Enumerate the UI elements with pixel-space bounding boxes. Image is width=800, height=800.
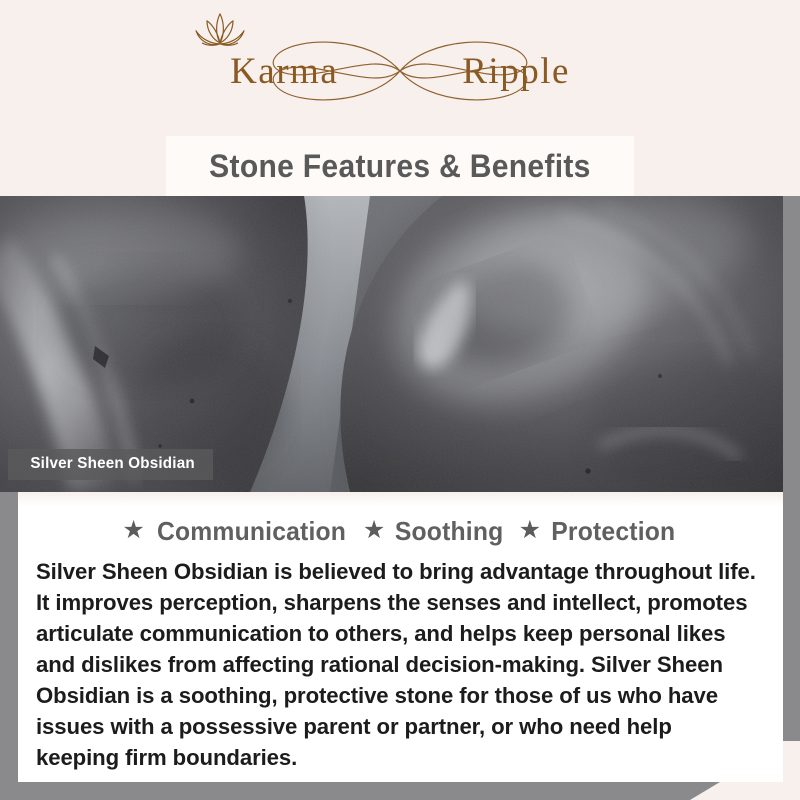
keyword-item-soothing: ★ Soothing	[363, 516, 507, 547]
header: Karma Ripple Stone Features & Benefits	[0, 0, 800, 196]
obsidian-stones-image	[0, 196, 783, 492]
stone-description: Silver Sheen Obsidian is believed to bri…	[36, 556, 757, 773]
panel-bottom-pad	[18, 782, 720, 800]
lotus-icon	[187, 10, 253, 52]
star-icon: ★	[519, 518, 541, 543]
brand-name-left: Karma	[230, 53, 338, 90]
keyword-label: Communication	[157, 516, 346, 547]
star-icon: ★	[363, 518, 385, 543]
content-panel: ★ Communication ★ Soothing ★ Protection …	[18, 492, 783, 782]
keyword-label: Soothing	[395, 516, 504, 547]
photo-caption: Silver Sheen Obsidian	[8, 449, 213, 480]
panel-top-fade	[18, 492, 783, 506]
photo-caption-label: Silver Sheen Obsidian	[30, 455, 194, 473]
star-icon: ★	[122, 518, 144, 543]
brand-logo[interactable]: Karma Ripple	[0, 30, 800, 112]
stone-info-card: Karma Ripple Stone Features & Benefits	[0, 0, 800, 800]
page-title-plate: Stone Features & Benefits	[166, 136, 634, 196]
stone-photo: Silver Sheen Obsidian	[0, 196, 783, 492]
page-title: Stone Features & Benefits	[209, 148, 590, 185]
keyword-list: ★ Communication ★ Soothing ★ Protection	[18, 516, 783, 547]
brand-name-right: Ripple	[462, 53, 570, 90]
keyword-item-protection: ★ Protection	[519, 516, 679, 547]
keyword-item-communication: ★ Communication	[122, 516, 350, 547]
keyword-label: Protection	[551, 516, 675, 547]
